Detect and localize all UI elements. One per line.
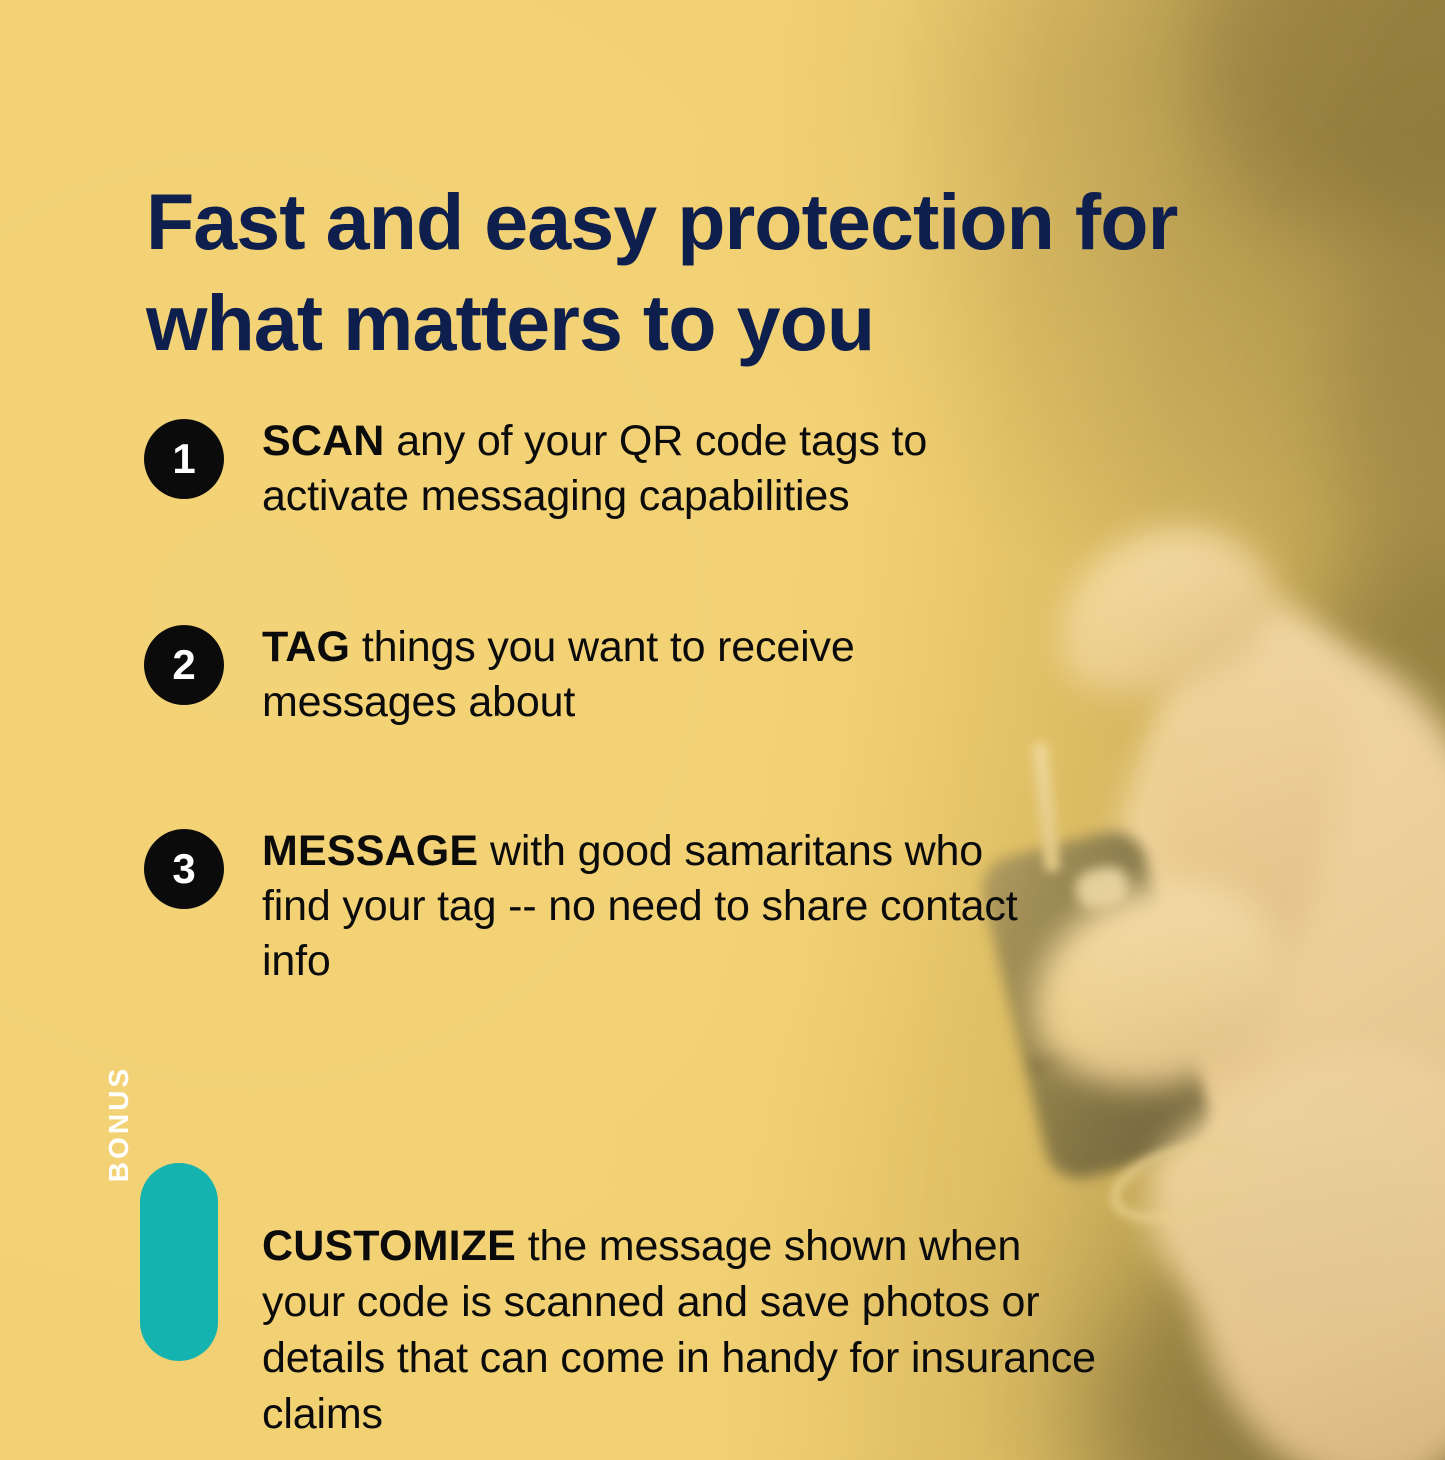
bonus-text: CUSTOMIZE the message shown when your co… bbox=[262, 1163, 1100, 1442]
step-description: things you want to receive messages abou… bbox=[262, 623, 855, 726]
bonus-section: BONUS CUSTOMIZE the message shown when y… bbox=[140, 1163, 1100, 1442]
step-keyword: TAG bbox=[262, 623, 350, 671]
page-title: Fast and easy protection for what matter… bbox=[146, 171, 1306, 373]
step-keyword: SCAN bbox=[262, 417, 385, 465]
step-text: TAG things you want to receive messages … bbox=[262, 620, 1044, 730]
list-item: 3 MESSAGE with good samaritans who find … bbox=[144, 824, 1044, 989]
step-text: SCAN any of your QR code tags to activat… bbox=[262, 414, 1044, 524]
list-item: 1 SCAN any of your QR code tags to activ… bbox=[144, 414, 1044, 524]
bonus-badge-label: BONUS bbox=[80, 1025, 158, 1223]
step-number-badge: 1 bbox=[144, 419, 224, 499]
poster-content: Fast and easy protection for what matter… bbox=[0, 0, 1445, 1460]
step-number-badge: 3 bbox=[144, 829, 224, 909]
bonus-badge: BONUS bbox=[140, 1163, 218, 1361]
step-keyword: MESSAGE bbox=[262, 827, 478, 875]
steps-list: 1 SCAN any of your QR code tags to activ… bbox=[144, 414, 1044, 989]
list-item: 2 TAG things you want to receive message… bbox=[144, 620, 1044, 730]
step-text: MESSAGE with good samaritans who find yo… bbox=[262, 824, 1044, 989]
promo-poster: Fast and easy protection for what matter… bbox=[0, 0, 1445, 1460]
step-number-badge: 2 bbox=[144, 625, 224, 705]
bonus-keyword: CUSTOMIZE bbox=[262, 1222, 516, 1270]
